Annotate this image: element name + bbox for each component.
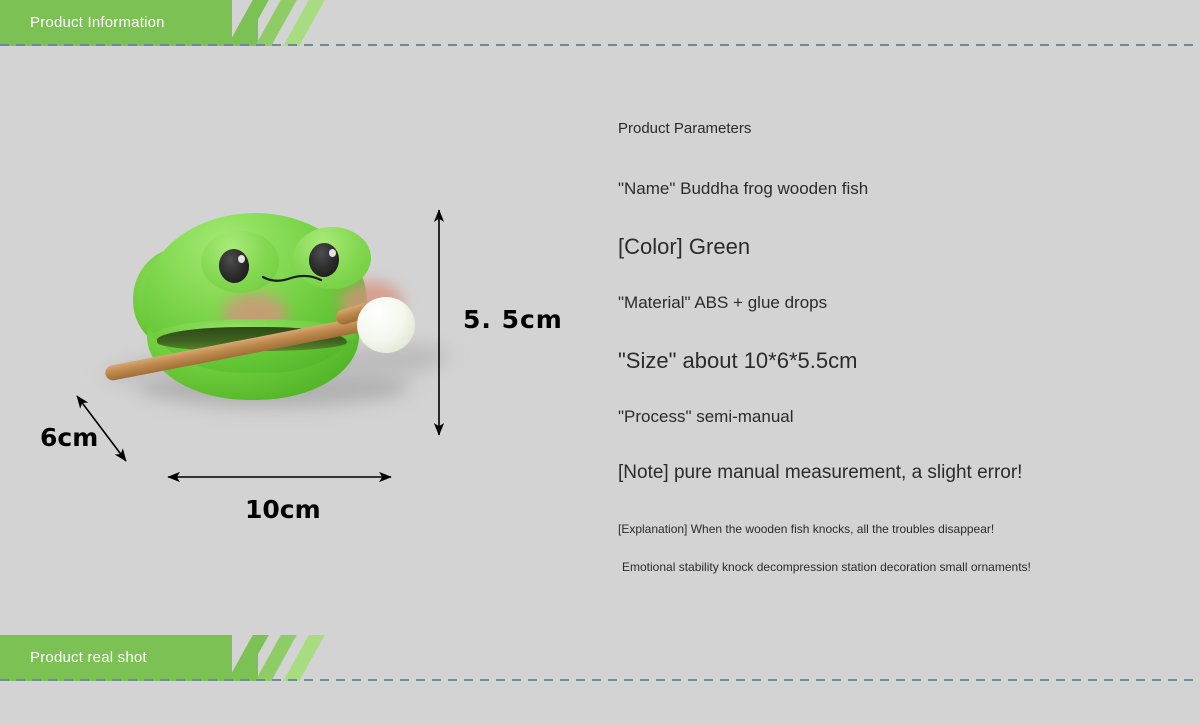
top-dashed-divider	[0, 44, 1200, 46]
spec-note: [Note] pure manual measurement, a slight…	[618, 462, 1178, 484]
frog-eye-highlight-right	[329, 249, 336, 257]
frog-eye-highlight-left	[238, 255, 245, 263]
product-real-shot-banner: Product real shot	[0, 635, 1200, 681]
product-parameters-list: Product Parameters "Name" Buddha frog wo…	[618, 120, 1178, 574]
mallet-ball-tip	[357, 297, 415, 353]
depth-dimension-label: 6cm	[40, 423, 98, 452]
spec-color: [Color] Green	[618, 234, 1178, 260]
spec-title: Product Parameters	[618, 120, 1178, 137]
height-dimension-label: 5. 5cm	[463, 305, 563, 334]
product-photo	[95, 195, 435, 445]
product-real-shot-title: Product real shot	[30, 635, 147, 681]
bottom-dashed-divider	[0, 679, 1200, 681]
spec-explanation: [Explanation] When the wooden fish knock…	[618, 522, 1178, 536]
spec-size: "Size" about 10*6*5.5cm	[618, 348, 1178, 374]
product-information-title: Product Information	[30, 0, 165, 46]
spec-material: "Material" ABS + glue drops	[618, 293, 1178, 313]
product-information-banner: Product Information	[0, 0, 1200, 46]
spec-process: "Process" semi-manual	[618, 407, 1178, 427]
frog-mouth-icon	[261, 273, 323, 285]
spec-name: "Name" Buddha frog wooden fish	[618, 179, 1178, 199]
spec-tagline: Emotional stability knock decompression …	[618, 560, 1178, 574]
product-information-page: Product Information	[0, 0, 1200, 725]
width-dimension-label: 10cm	[245, 495, 321, 524]
